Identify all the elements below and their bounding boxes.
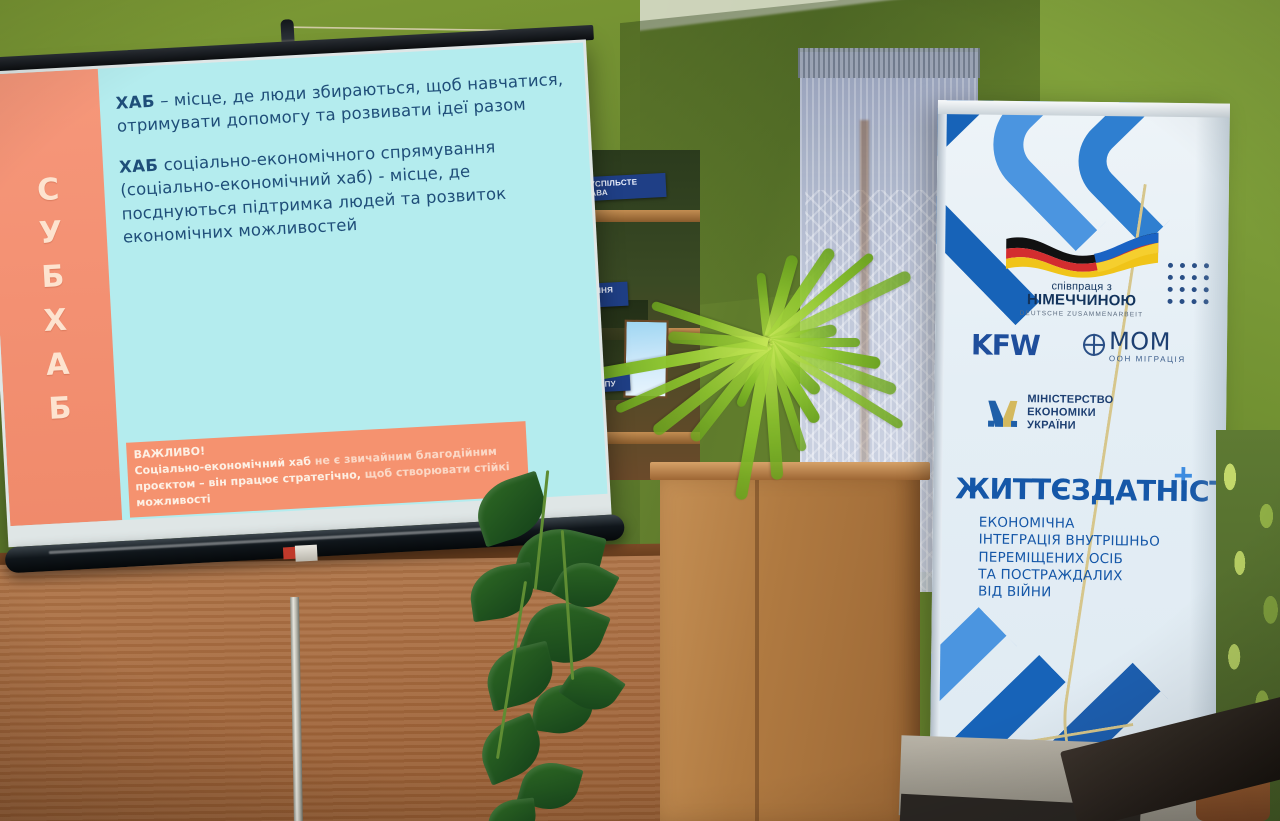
- curtain-rod: [798, 48, 980, 78]
- photo-scene: УСПІЛЬСТЕ АВА ЛВАННЯ ЧАСІ ЕДОРА: ПОСТУПУ…: [0, 0, 1280, 821]
- iom-logo: MOM ООН МІГРАЦІЯ: [1083, 330, 1186, 364]
- rail-letter: Б: [41, 264, 65, 291]
- slide-callout: ВАЖЛИВО! Соціально-економічний хаб не є …: [126, 421, 529, 517]
- cooperation-logo: співпраця з НІМЕЧЧИНОЮ DEUTSCHE ZUSAMMEN…: [997, 229, 1166, 319]
- philodendron-leaf: [486, 798, 538, 821]
- slide: С У Б Х А Б ХАБ – місце, де люди збирают…: [0, 42, 607, 526]
- program-subtitle: ЕКОНОМІЧНА ІНТЕГРАЦІЯ ВНУТРІШНЬО ПЕРЕМІЩ…: [978, 515, 1219, 604]
- flag-ribbon-icon: [998, 229, 1167, 279]
- philodendron-leaf: [467, 562, 538, 622]
- subtitle-line-5: ВІД ВІЙНИ: [978, 584, 1218, 604]
- slide-paragraph-2: ХАБ соціально-економічного спрямування (…: [118, 131, 574, 249]
- ministry-line-1: МІНІСТЕРСТВО: [1027, 393, 1113, 407]
- kfw-logo: KFW: [971, 328, 1040, 362]
- rail-letter: Х: [43, 308, 68, 335]
- rail-letter: Б: [48, 395, 72, 422]
- slide-paragraph-1: ХАБ – місце, де люди збираються, щоб нав…: [115, 67, 569, 138]
- ministry-mark-icon: [986, 396, 1020, 428]
- slide-body: ХАБ – місце, де люди збираються, щоб нав…: [98, 42, 608, 520]
- slide-paragraph-1-text: – місце, де люди збираються, щоб навчати…: [116, 70, 563, 137]
- rail-letter: У: [38, 220, 63, 247]
- slide-paragraph-2-lead: ХАБ: [119, 155, 159, 176]
- ministry-line-3: УКРАЇНИ: [1027, 419, 1113, 433]
- ministry-logo: МІНІСТЕРСТВО ЕКОНОМІКИ УКРАЇНИ: [986, 393, 1114, 434]
- rail-letter: А: [45, 352, 70, 379]
- coop-line-2: НІМЕЧЧИНОЮ: [997, 292, 1165, 310]
- program-title: ЖИТТЄЗДАТНІСТЬ: [955, 472, 1211, 508]
- iom-label: MOM: [1109, 330, 1186, 354]
- coop-line-3: DEUTSCHE ZUSAMMENARBEIT: [997, 309, 1165, 318]
- roller-clip: [295, 545, 318, 562]
- philodendron-plant: [470, 470, 680, 821]
- rollup-banner: співпраця з НІМЕЧЧИНОЮ DEUTSCHE ZUSAMMEN…: [929, 100, 1230, 821]
- slide-paragraph-2-text: соціально-економічного спрямування (соці…: [120, 137, 507, 247]
- rail-letter: С: [37, 177, 60, 204]
- banner-content: співпраця з НІМЕЧЧИНОЮ DEUTSCHE ZUSAMMEN…: [929, 100, 1230, 821]
- slide-paragraph-1-lead: ХАБ: [115, 92, 155, 113]
- globe-icon: [1083, 334, 1105, 356]
- iom-sublabel: ООН МІГРАЦІЯ: [1109, 354, 1186, 364]
